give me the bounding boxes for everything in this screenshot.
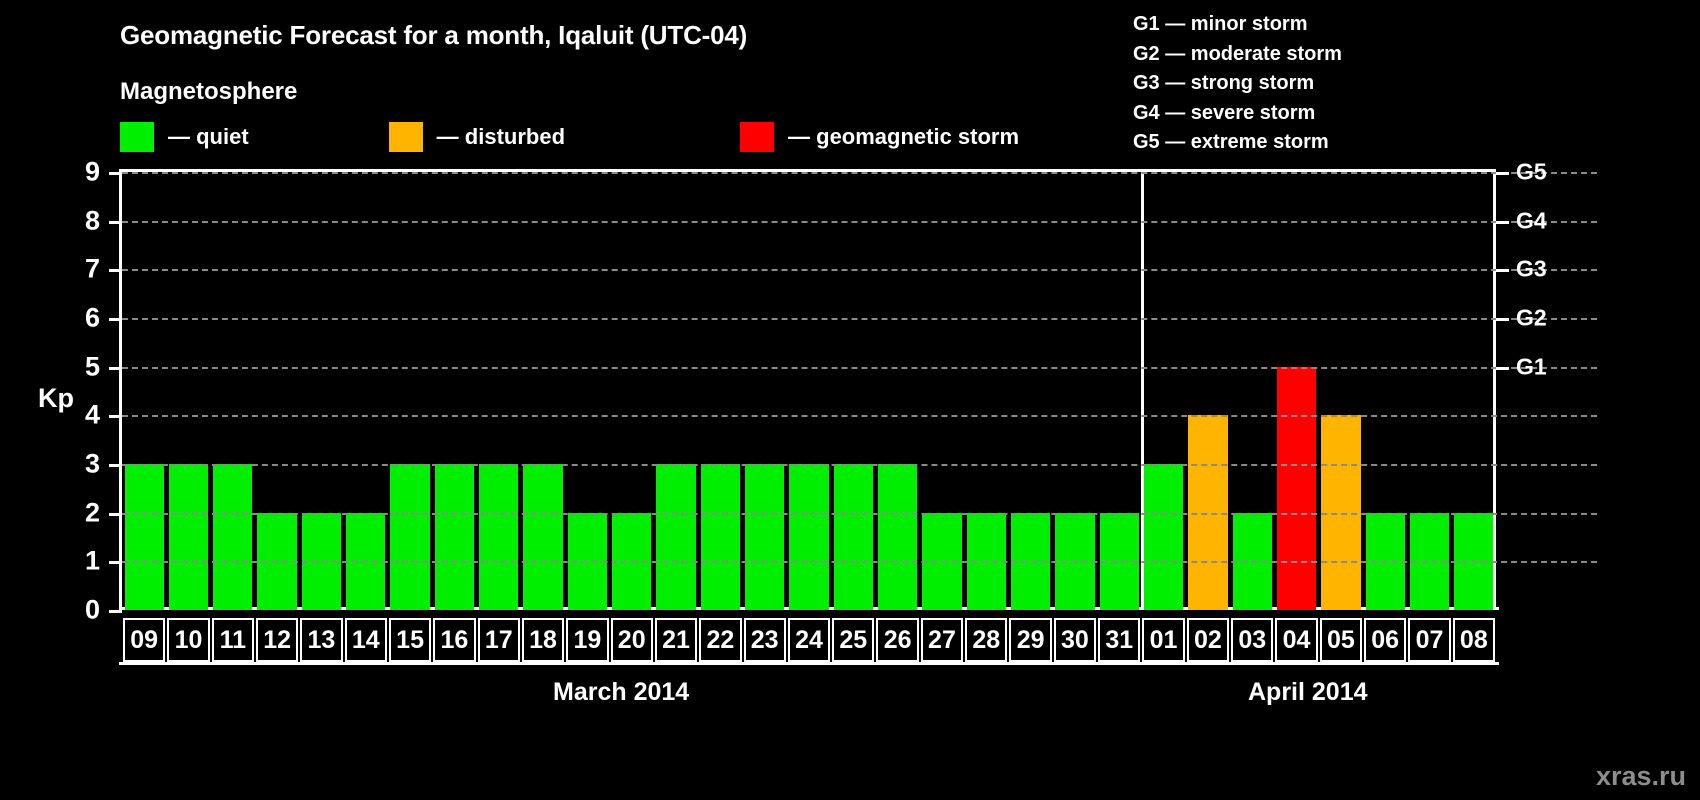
- y-axis-tick: [109, 269, 122, 272]
- chart-plot-area: 0123456789G1G2G3G4G5: [122, 169, 1496, 607]
- legend-item: — disturbed: [389, 122, 565, 152]
- y-axis-tick: [109, 367, 122, 370]
- day-label: 23: [744, 618, 786, 662]
- day-label: 18: [522, 618, 564, 662]
- g-scale-entry: G5 — extreme storm: [1133, 128, 1342, 158]
- legend-item: — quiet: [120, 122, 249, 152]
- day-label: 25: [832, 618, 874, 662]
- bar: [169, 464, 208, 610]
- y-axis-tick: [109, 172, 122, 175]
- section-label: Magnetosphere: [120, 78, 297, 106]
- g-scale-entry: G3 — strong storm: [1133, 69, 1342, 99]
- gridline: [122, 318, 1597, 320]
- day-label: 11: [212, 618, 254, 662]
- day-label: 02: [1187, 618, 1229, 662]
- day-label: 07: [1408, 618, 1450, 662]
- y-axis-tick-label: 5: [60, 351, 100, 382]
- y-axis-tick-label: 1: [60, 546, 100, 577]
- month-label: April 2014: [1248, 678, 1368, 707]
- day-axis: 0910111213141516171819202122232425262728…: [122, 618, 1496, 662]
- y-axis-tick-label: 0: [60, 595, 100, 626]
- day-label: 06: [1364, 618, 1406, 662]
- bar: [479, 464, 518, 610]
- bar: [1144, 464, 1183, 610]
- g-axis-tick: [1496, 269, 1509, 272]
- g-axis-label: G2: [1516, 305, 1547, 332]
- day-label: 27: [921, 618, 963, 662]
- g-axis-label: G4: [1516, 207, 1547, 234]
- watermark: xras.ru: [1596, 761, 1686, 792]
- y-axis-tick-label: 2: [60, 497, 100, 528]
- page-title: Geomagnetic Forecast for a month, Iqalui…: [120, 20, 747, 51]
- g-axis-label: G3: [1516, 256, 1547, 283]
- magnetosphere-legend: — quiet— disturbed— geomagnetic storm: [120, 122, 1019, 152]
- bar: [435, 464, 474, 610]
- day-label: 13: [300, 618, 342, 662]
- day-label: 03: [1231, 618, 1273, 662]
- day-label: 09: [123, 618, 165, 662]
- y-axis-tick: [109, 513, 122, 516]
- y-axis-tick-label: 4: [60, 400, 100, 431]
- gridline: [122, 367, 1597, 369]
- day-label: 20: [611, 618, 653, 662]
- y-axis-tick-label: 6: [60, 303, 100, 334]
- y-axis-tick: [109, 221, 122, 224]
- y-axis-tick: [109, 464, 122, 467]
- bar: [523, 464, 562, 610]
- day-label: 29: [1009, 618, 1051, 662]
- g-axis-label: G1: [1516, 353, 1547, 380]
- bar: [656, 464, 695, 610]
- gridline: [122, 513, 1597, 515]
- day-label: 28: [965, 618, 1007, 662]
- day-label: 17: [478, 618, 520, 662]
- month-divider: [1141, 172, 1144, 610]
- g-axis-tick: [1496, 318, 1509, 321]
- bar: [125, 464, 164, 610]
- bar: [1277, 367, 1316, 610]
- gridline: [122, 269, 1597, 271]
- day-label: 15: [389, 618, 431, 662]
- gridline: [122, 415, 1597, 417]
- y-axis-tick: [109, 415, 122, 418]
- legend-item: — geomagnetic storm: [740, 122, 1019, 152]
- day-axis-baseline: [119, 662, 1499, 665]
- y-axis-tick-label: 8: [60, 205, 100, 236]
- g-scale-entry: G1 — minor storm: [1133, 10, 1342, 40]
- g-axis-tick: [1496, 367, 1509, 370]
- y-axis-tick: [109, 610, 122, 613]
- storm-swatch: [740, 122, 774, 152]
- day-label: 10: [167, 618, 209, 662]
- g-axis-tick: [1496, 172, 1509, 175]
- gridline: [122, 221, 1597, 223]
- gridline: [122, 464, 1597, 466]
- y-axis-tick: [109, 318, 122, 321]
- disturbed-swatch: [389, 122, 423, 152]
- bar: [213, 464, 252, 610]
- legend-label: — quiet: [168, 124, 249, 150]
- day-label: 30: [1054, 618, 1096, 662]
- day-label: 22: [699, 618, 741, 662]
- g-scale-entry: G2 — moderate storm: [1133, 40, 1342, 70]
- day-label: 24: [788, 618, 830, 662]
- y-axis-tick-label: 9: [60, 157, 100, 188]
- day-label: 31: [1098, 618, 1140, 662]
- bar: [789, 464, 828, 610]
- day-label: 01: [1142, 618, 1184, 662]
- y-axis-tick-label: 7: [60, 254, 100, 285]
- bar: [390, 464, 429, 610]
- y-axis-tick: [109, 561, 122, 564]
- day-label: 16: [433, 618, 475, 662]
- day-label: 21: [655, 618, 697, 662]
- g-scale-legend: G1 — minor stormG2 — moderate stormG3 — …: [1133, 10, 1342, 158]
- bar-series: [122, 172, 1496, 610]
- day-label: 12: [256, 618, 298, 662]
- legend-label: — disturbed: [437, 124, 565, 150]
- bar: [745, 464, 784, 610]
- y-axis-tick-label: 3: [60, 449, 100, 480]
- month-label: March 2014: [553, 678, 689, 707]
- g-axis-tick: [1496, 221, 1509, 224]
- g-axis-label: G5: [1516, 159, 1547, 186]
- day-label: 05: [1320, 618, 1362, 662]
- day-label: 04: [1275, 618, 1317, 662]
- bar: [878, 464, 917, 610]
- gridline: [122, 561, 1597, 563]
- day-label: 19: [566, 618, 608, 662]
- day-label: 08: [1453, 618, 1495, 662]
- bar: [701, 464, 740, 610]
- bar: [834, 464, 873, 610]
- quiet-swatch: [120, 122, 154, 152]
- legend-label: — geomagnetic storm: [788, 124, 1019, 150]
- gridline: [122, 172, 1597, 174]
- g-scale-entry: G4 — severe storm: [1133, 99, 1342, 129]
- day-label: 14: [345, 618, 387, 662]
- day-label: 26: [876, 618, 918, 662]
